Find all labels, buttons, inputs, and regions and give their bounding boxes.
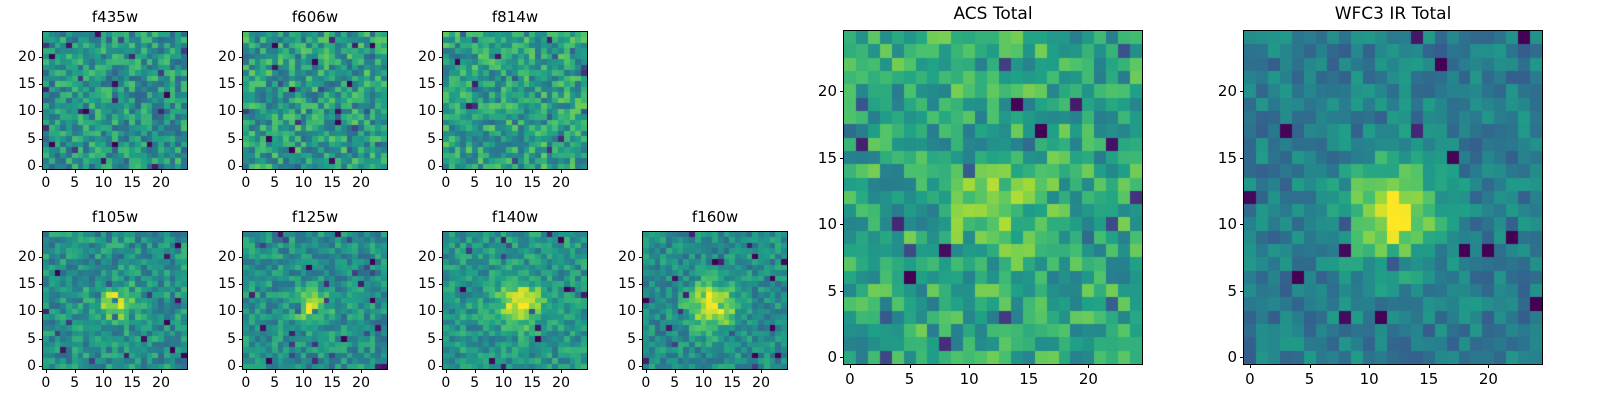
y-tick-label: 20 — [1193, 82, 1237, 100]
x-tick-mark — [1488, 364, 1489, 368]
x-tick-label: 5 — [1305, 370, 1315, 388]
x-tick-label: 15 — [1419, 370, 1438, 388]
y-tick-label: 5 — [1193, 282, 1237, 300]
heatmap-axes-wfc3_total — [1243, 30, 1543, 365]
x-tick-label: 10 — [1360, 370, 1379, 388]
y-tick-mark — [1240, 357, 1244, 358]
panel-title-wfc3_total: WFC3 IR Total — [1243, 4, 1543, 24]
y-tick-mark — [1240, 224, 1244, 225]
y-tick-label: 15 — [1193, 149, 1237, 167]
y-tick-mark — [1240, 91, 1244, 92]
y-tick-mark — [1240, 158, 1244, 159]
y-tick-label: 10 — [1193, 215, 1237, 233]
figure-canvas: f435w0055101015152020f606w00551010151520… — [0, 0, 1600, 400]
x-tick-label: 20 — [1479, 370, 1498, 388]
x-tick-mark — [1310, 364, 1311, 368]
y-tick-mark — [1240, 291, 1244, 292]
x-tick-label: 0 — [1245, 370, 1255, 388]
x-tick-mark — [1369, 364, 1370, 368]
panel-wfc3_total: WFC3 IR Total0055101015152020 — [0, 0, 1600, 400]
x-tick-mark — [1250, 364, 1251, 368]
y-tick-label: 0 — [1193, 348, 1237, 366]
heatmap-image-wfc3_total — [1244, 31, 1542, 364]
x-tick-mark — [1429, 364, 1430, 368]
